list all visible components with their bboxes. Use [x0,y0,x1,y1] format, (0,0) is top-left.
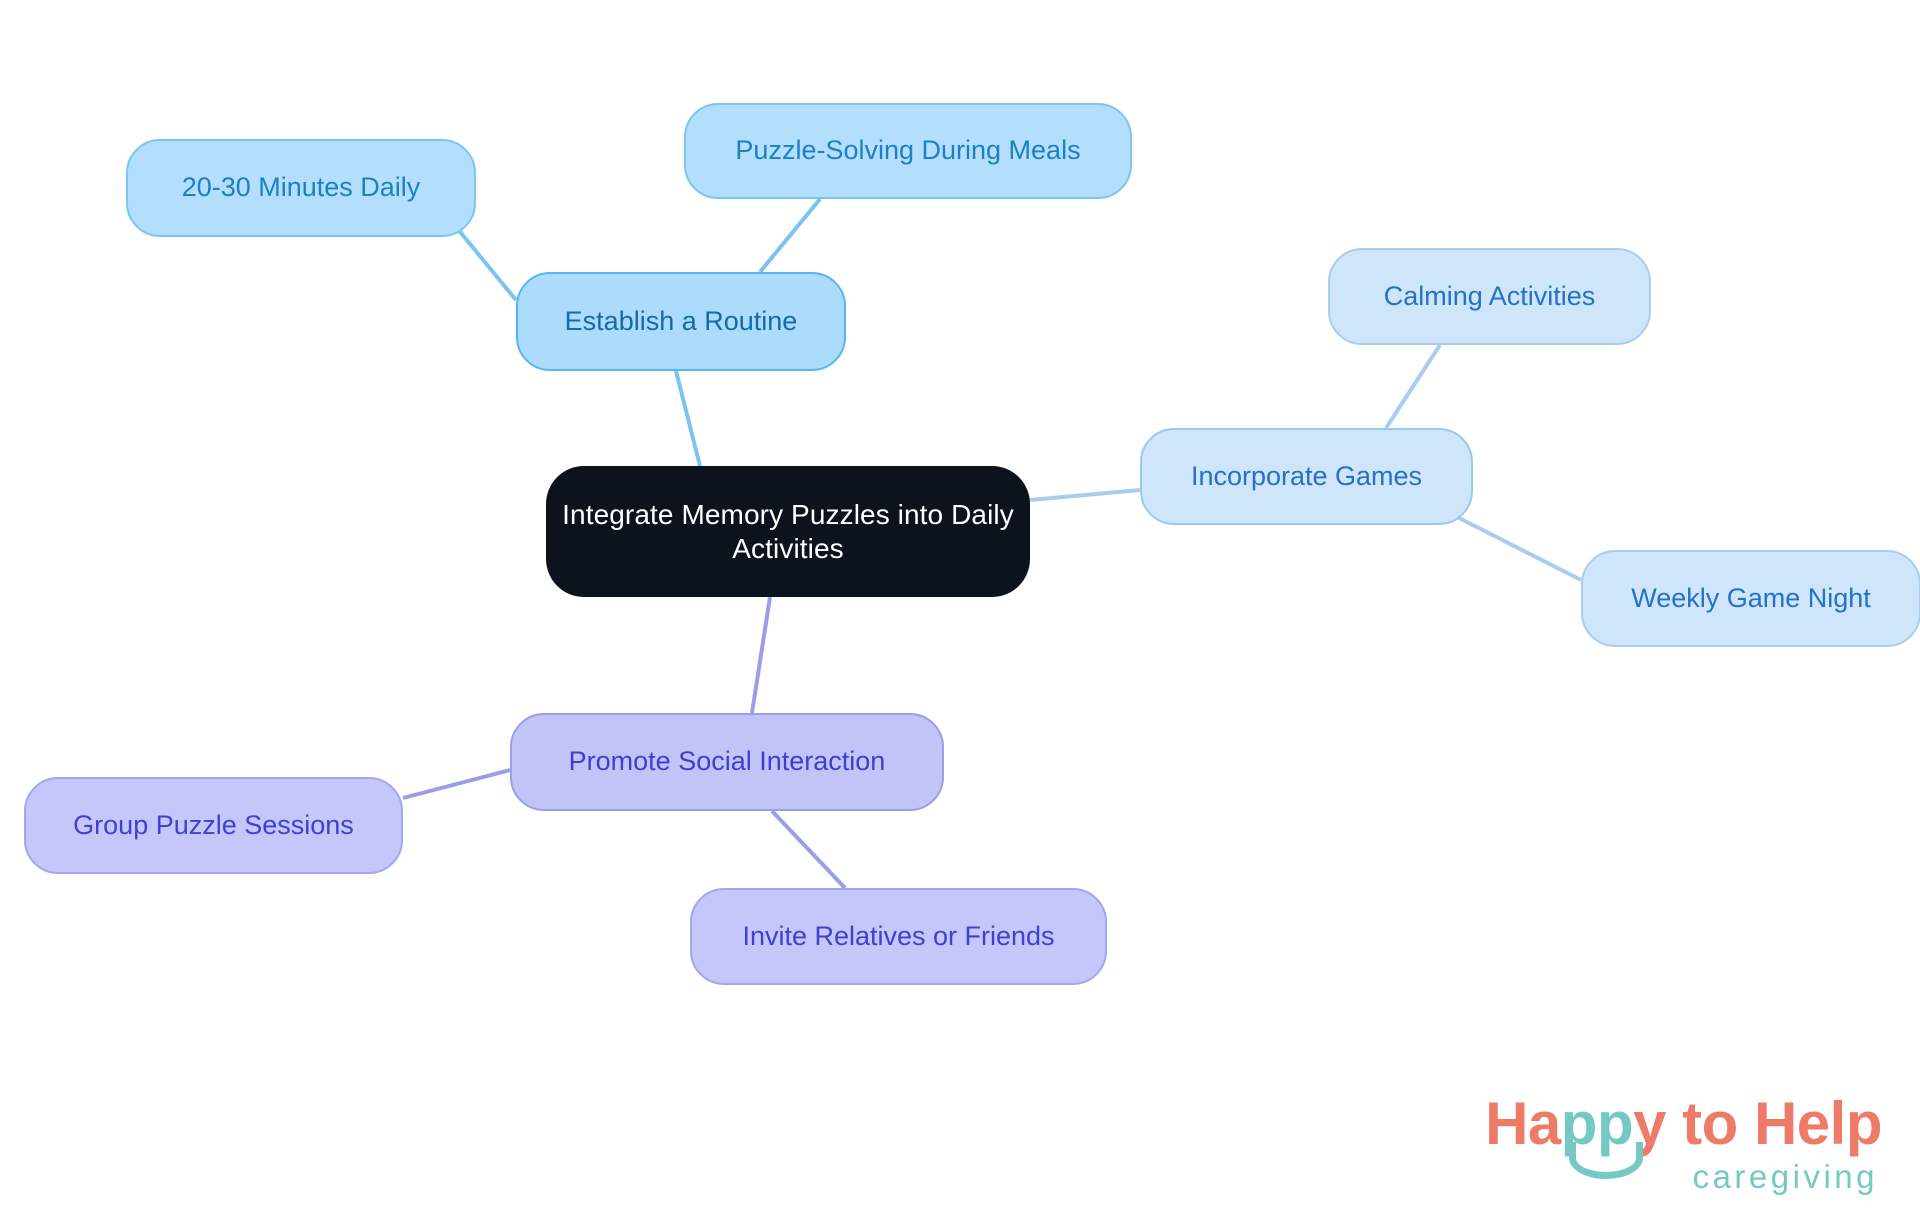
mindmap-node-incorporate-games[interactable]: Incorporate Games [1140,428,1473,525]
brand-logo: Happy to Help caregiving [1485,1094,1882,1193]
edge-root-establish [676,371,700,466]
brand-logo-wordmark: Happy to Help [1485,1094,1882,1154]
mindmap-node-invite-relatives-or-friends[interactable]: Invite Relatives or Friends [690,888,1107,985]
edge-root-games [1030,490,1140,500]
mindmap-node-establish-a-routine[interactable]: Establish a Routine [516,272,846,371]
mindmap-node-20-30-minutes-daily[interactable]: 20-30 Minutes Daily [126,139,476,237]
edge-social-group [403,770,510,798]
brand-logo-tagline: caregiving [1485,1160,1882,1193]
mindmap-node-weekly-game-night[interactable]: Weekly Game Night [1581,550,1920,647]
mindmap-node-promote-social-interaction[interactable]: Promote Social Interaction [510,713,944,811]
logo-text-ha: Ha [1485,1090,1561,1157]
edge-games-gamenight [1455,516,1581,580]
edge-establish-2030 [452,222,516,300]
mindmap-canvas: Integrate Memory Puzzles into Daily Acti… [0,0,1920,1215]
mindmap-node-calming-activities[interactable]: Calming Activities [1328,248,1651,345]
edge-games-calming [1386,345,1440,428]
logo-text-help: Help [1754,1090,1882,1157]
edge-root-social [752,597,770,713]
mindmap-root-node[interactable]: Integrate Memory Puzzles into Daily Acti… [546,466,1030,597]
mindmap-node-group-puzzle-sessions[interactable]: Group Puzzle Sessions [24,777,403,874]
edge-establish-puzzle [760,199,820,272]
logo-text-to: to [1666,1090,1754,1157]
mindmap-node-puzzle-solving-during-meals[interactable]: Puzzle-Solving During Meals [684,103,1132,199]
edge-social-invite [772,811,845,888]
